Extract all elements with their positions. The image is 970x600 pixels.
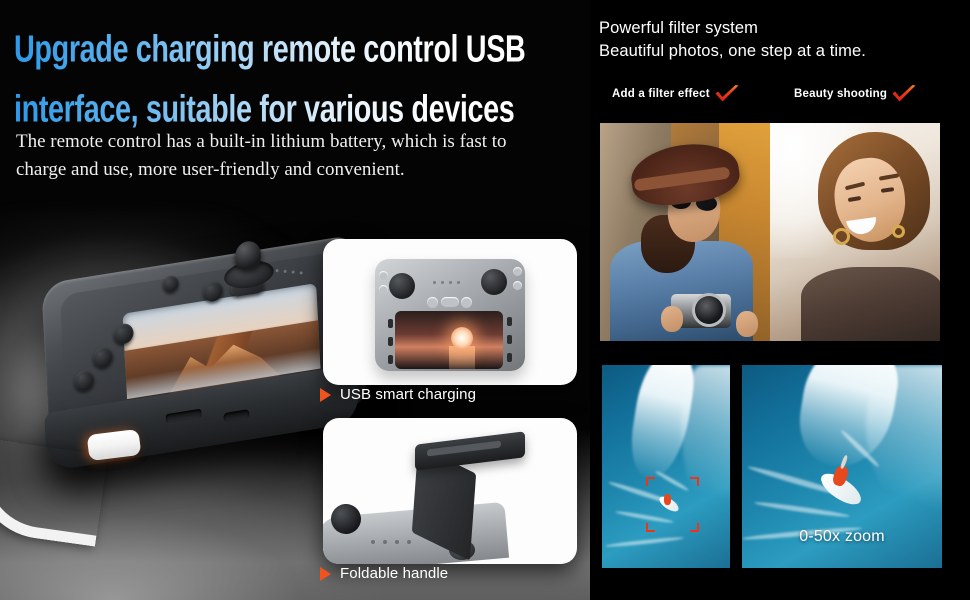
mini-button-e xyxy=(427,297,438,308)
focus-bracket-br xyxy=(690,523,699,532)
photo-earring-left xyxy=(833,228,850,245)
photo-hand-right xyxy=(736,311,758,337)
mini-button-b xyxy=(379,285,388,294)
check-mark-icon xyxy=(714,84,740,104)
triangle-right-icon xyxy=(320,567,331,581)
subheadline-text: The remote control has a built-in lithiu… xyxy=(16,128,561,184)
mini-button-c xyxy=(513,267,522,276)
controller-button-aux[interactable] xyxy=(162,275,179,294)
controller-button-l1[interactable] xyxy=(74,369,95,392)
ocean-background: 0-50x zoom xyxy=(742,365,942,568)
zoom-level-label: 0-50x zoom xyxy=(799,528,885,546)
mini-joystick-left xyxy=(389,273,415,299)
filter-heading-line-2: Beautiful photos, one step at a time. xyxy=(599,40,959,63)
filter-system-heading: Powerful filter system Beautiful photos,… xyxy=(599,17,959,63)
photo-smiling-woman xyxy=(770,123,940,341)
caption-foldable-handle: Foldable handle xyxy=(320,565,448,582)
feature-check-label: Beauty shooting xyxy=(794,88,887,100)
headline-line-1: Upgrade charging remote control USB xyxy=(14,22,552,78)
right-panel: Powerful filter system Beautiful photos,… xyxy=(590,0,970,600)
photo-surfer-wide xyxy=(602,365,730,568)
triangle-right-icon xyxy=(320,388,331,402)
usb-connector-plug xyxy=(87,429,142,461)
feature-check-filter-effect: Add a filter effect xyxy=(612,84,740,104)
inset-card-foldable-handle xyxy=(323,418,577,564)
focus-bracket-tr xyxy=(690,477,699,486)
product-infographic: Upgrade charging remote control USB inte… xyxy=(0,0,970,600)
inset-card-usb-charging xyxy=(323,239,577,385)
filter-heading-line-1: Powerful filter system xyxy=(599,17,959,40)
focus-bracket-tl xyxy=(646,477,655,486)
feature-check-label: Add a filter effect xyxy=(612,88,710,100)
photo-surfer-zoomed: 0-50x zoom xyxy=(742,365,942,568)
photo-woman-with-camera xyxy=(600,123,770,341)
mini-remote-screen xyxy=(395,311,503,369)
filter-sample-photo-pair xyxy=(600,123,940,341)
photo-camera-lens xyxy=(695,296,723,324)
feature-check-beauty-shooting: Beauty shooting xyxy=(794,84,917,104)
usb-charging-cable xyxy=(0,418,160,558)
surfer-rider xyxy=(664,494,671,505)
caption-usb-smart-charging: USB smart charging xyxy=(320,386,476,403)
mini-remote-body xyxy=(375,259,525,371)
controller-joystick[interactable] xyxy=(234,239,262,283)
surfer-large xyxy=(818,479,864,499)
ocean-background xyxy=(602,365,730,568)
check-mark-icon xyxy=(891,84,917,104)
left-panel: Upgrade charging remote control USB inte… xyxy=(0,0,590,600)
photo-shirt xyxy=(801,267,940,341)
mini-button-f xyxy=(461,297,472,308)
mini-button-g xyxy=(441,297,459,307)
photo-hand-left xyxy=(661,306,683,332)
surfer-small xyxy=(658,499,680,509)
focus-bracket-bl xyxy=(646,523,655,532)
headline-block: Upgrade charging remote control USB inte… xyxy=(14,22,574,126)
caption-label: Foldable handle xyxy=(340,565,448,582)
screen-sun-reflection xyxy=(449,346,475,369)
mini-remote-illustration xyxy=(375,251,525,373)
handle-led-dots xyxy=(371,540,417,545)
controller-button-l2[interactable] xyxy=(93,346,114,369)
mini-button-a xyxy=(379,271,388,280)
mini-button-d xyxy=(513,281,522,290)
mini-joystick-right xyxy=(481,269,507,295)
caption-label: USB smart charging xyxy=(340,386,476,403)
